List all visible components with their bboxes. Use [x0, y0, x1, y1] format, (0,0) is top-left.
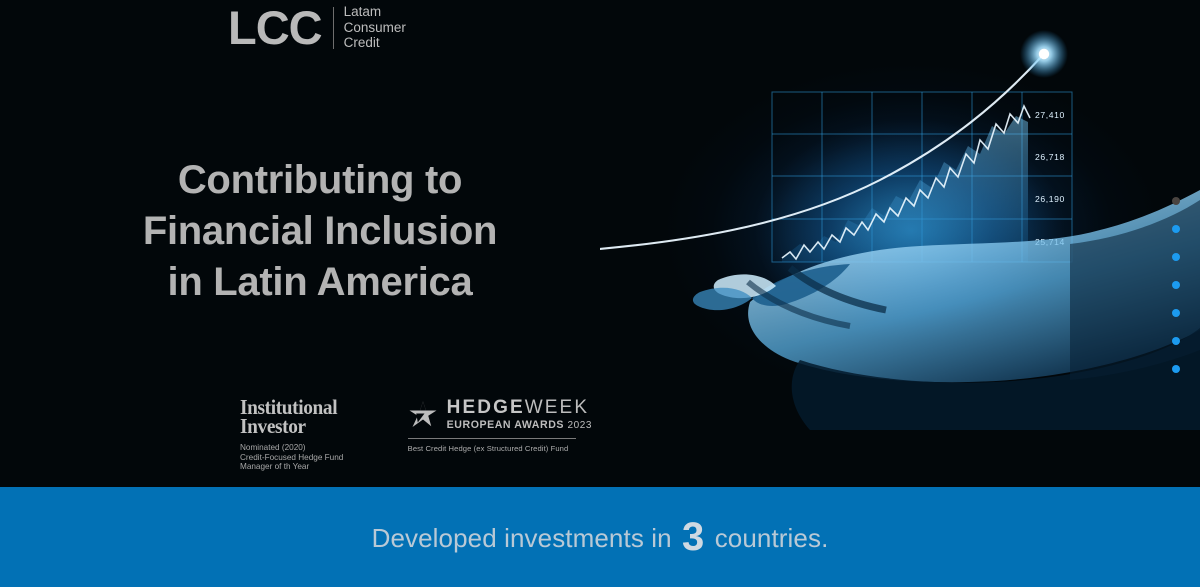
award-institutional-investor: Institutional Investor Nominated (2020) …	[240, 398, 346, 472]
chart-tick-labels: 27,410 26,718 26,190 25,714	[1035, 110, 1065, 247]
ii-logo-line-2: Investor	[240, 417, 337, 436]
hedgeweek-wordmark: HEDGEWEEK	[447, 398, 592, 418]
stats-suffix: countries.	[707, 523, 828, 553]
chart-tip-dot	[1039, 49, 1049, 59]
hedgeweek-caption: Best Credit Hedge (ex Structured Credit)…	[408, 444, 592, 453]
stats-prefix: Developed investments in	[372, 523, 679, 553]
star-icon	[408, 400, 438, 430]
stats-banner: Developed investments in 3 countries.	[0, 487, 1200, 587]
hedgeweek-text: HEDGEWEEK EUROPEAN AWARDS 2023	[447, 398, 592, 432]
stats-count: 3	[679, 515, 707, 559]
hedgeweek-year: 2023	[568, 420, 592, 431]
carousel-dots-nav[interactable]	[1172, 197, 1180, 373]
hedgeweek-light: WEEK	[525, 397, 589, 418]
carousel-dot[interactable]	[1172, 337, 1180, 345]
logo-word-latam: Latam	[344, 4, 406, 20]
carousel-dot[interactable]	[1172, 309, 1180, 317]
logo-wordmark: Latam Consumer Credit	[344, 4, 406, 51]
chart-tick-label: 27,410	[1035, 110, 1065, 120]
carousel-dot[interactable]	[1172, 197, 1180, 205]
institutional-investor-caption: Nominated (2020) Credit-Focused Hedge Fu…	[240, 443, 346, 472]
page-title: Contributing to Financial Inclusion in L…	[60, 155, 580, 308]
hedgeweek-logo: HEDGEWEEK EUROPEAN AWARDS 2023	[408, 398, 592, 432]
carousel-dot[interactable]	[1172, 225, 1180, 233]
logo-mark: LCC	[228, 4, 322, 51]
chart-tick-label: 26,190	[1035, 194, 1065, 204]
carousel-dot[interactable]	[1172, 365, 1180, 373]
logo-word-consumer: Consumer	[344, 20, 406, 36]
hand-holding-growth-chart-illustration: 27,410 26,718 26,190 25,714	[600, 30, 1200, 470]
awards-row: Institutional Investor Nominated (2020) …	[240, 398, 592, 472]
hero-section: 27,410 26,718 26,190 25,714 LCC Latam Co…	[0, 0, 1200, 487]
institutional-investor-logo: Institutional Investor	[240, 398, 337, 436]
headline-line-3: in Latin America	[60, 257, 580, 308]
logo-divider	[333, 7, 334, 49]
stats-banner-text: Developed investments in 3 countries.	[372, 515, 829, 560]
hedgeweek-subtitle: EUROPEAN AWARDS 2023	[447, 419, 592, 432]
brand-logo[interactable]: LCC Latam Consumer Credit	[228, 4, 406, 51]
hedgeweek-subtitle-text: EUROPEAN AWARDS	[447, 419, 564, 431]
hedgeweek-bold: HEDGE	[447, 397, 525, 418]
carousel-dot[interactable]	[1172, 253, 1180, 261]
logo-word-credit: Credit	[344, 35, 406, 51]
headline-line-2: Financial Inclusion	[60, 206, 580, 257]
carousel-dot[interactable]	[1172, 281, 1180, 289]
hedgeweek-divider	[408, 438, 576, 439]
award-hedgeweek: HEDGEWEEK EUROPEAN AWARDS 2023 Best Cred…	[408, 398, 592, 453]
headline-line-1: Contributing to	[60, 155, 580, 206]
chart-tick-label: 26,718	[1035, 152, 1065, 162]
